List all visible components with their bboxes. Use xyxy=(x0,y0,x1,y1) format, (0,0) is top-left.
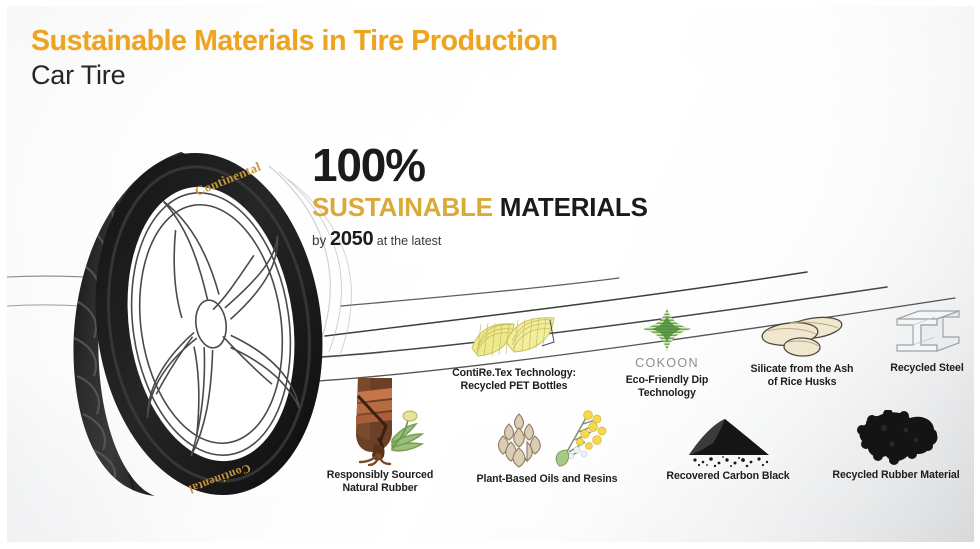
material-item-silicate: Silicate from the Ash of Rice Husks xyxy=(732,310,872,389)
material-item-cokoon: COKOON Eco-Friendly Dip Technology xyxy=(605,306,729,400)
woven-fabric-icon xyxy=(462,312,566,364)
tire-svg: Continental Continental xyxy=(31,134,341,509)
headline-row-2: SUSTAINABLE MATERIALS xyxy=(312,192,648,223)
material-caption: Silicate from the Ash of Rice Husks xyxy=(732,363,872,389)
headline-row-3: by 2050 at the latest xyxy=(312,228,648,250)
headline-year: 2050 xyxy=(330,228,373,250)
headline-by: by xyxy=(312,233,330,248)
rubber-crumb-icon xyxy=(848,410,944,466)
carbon-black-pile-icon xyxy=(673,415,783,467)
headline-block: 100% SUSTAINABLE MATERIALS by 2050 at th… xyxy=(312,142,648,250)
cokoon-wordmark: COKOON xyxy=(605,356,729,371)
material-item-carbon-black: Recovered Carbon Black xyxy=(648,415,808,483)
material-caption: Responsibly Sourced Natural Rubber xyxy=(312,469,448,495)
material-caption: Eco-Friendly Dip Technology xyxy=(605,374,729,400)
material-caption: Recycled Steel xyxy=(875,362,974,375)
headline-sustainable: SUSTAINABLE xyxy=(312,192,493,222)
material-caption: Recovered Carbon Black xyxy=(648,470,808,483)
rice-husk-icon xyxy=(756,310,848,360)
material-caption: Plant-Based Oils and Resins xyxy=(459,473,635,486)
page-subtitle: Car Tire xyxy=(31,60,558,92)
slide-canvas: Sustainable Materials in Tire Production… xyxy=(7,6,974,542)
material-item-natural-rubber: Responsibly Sourced Natural Rubber xyxy=(312,378,448,495)
pinecone-and-rapeseed-icon xyxy=(483,410,611,470)
cokoon-star-icon xyxy=(640,306,694,354)
material-caption: Recycled Rubber Material xyxy=(813,469,974,482)
headline-materials: MATERIALS xyxy=(493,192,648,222)
material-item-plant-oils: Plant-Based Oils and Resins xyxy=(459,410,635,486)
material-item-contirex: ContiRe.Tex Technology: Recycled PET Bot… xyxy=(439,312,589,393)
infographic-slide: Sustainable Materials in Tire Production… xyxy=(0,0,980,549)
material-item-recycled-rubber: Recycled Rubber Material xyxy=(813,410,974,482)
header: Sustainable Materials in Tire Production… xyxy=(31,26,558,92)
car-tire-illustration: Continental Continental xyxy=(31,134,341,509)
rubber-tree-tapping-icon xyxy=(334,378,426,466)
headline-at-the-latest: at the latest xyxy=(373,234,441,248)
headline-percent: 100% xyxy=(312,142,648,188)
material-item-steel: Recycled Steel xyxy=(875,309,974,375)
material-caption: ContiRe.Tex Technology: Recycled PET Bot… xyxy=(439,367,589,393)
i-beam-icon xyxy=(889,309,965,359)
page-title: Sustainable Materials in Tire Production xyxy=(31,26,558,57)
